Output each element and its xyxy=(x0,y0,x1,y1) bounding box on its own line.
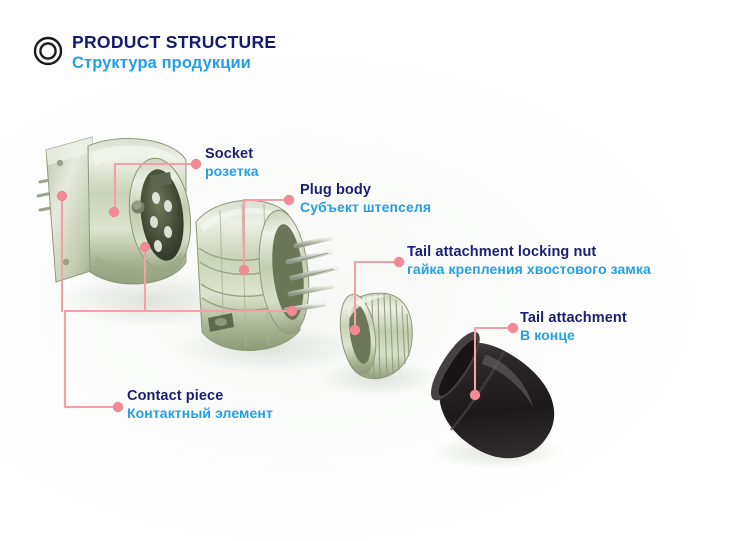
callout-label-locking-nut: Tail attachment locking nut гайка крепле… xyxy=(407,244,651,277)
callout-label-plug-body: Plug body Субъект штепселя xyxy=(300,182,431,215)
callout-ru-socket: розетка xyxy=(205,164,259,180)
bullseye-icon xyxy=(33,36,63,66)
callout-en-socket: Socket xyxy=(205,146,259,163)
leader-dot-contact-label xyxy=(113,402,123,412)
leader-dot-nut-target xyxy=(350,325,360,335)
callout-label-tail-attachment: Tail attachment В конце xyxy=(520,310,627,343)
header-title-en: PRODUCT STRUCTURE xyxy=(72,33,276,53)
leader-dots xyxy=(57,159,518,412)
header-title-ru: Структура продукции xyxy=(72,54,276,72)
leader-dot-socket-label xyxy=(191,159,201,169)
callout-ru-plug-body: Субъект штепселя xyxy=(300,200,431,216)
callout-label-socket: Socket розетка xyxy=(205,146,259,179)
leader-dot-plug-label xyxy=(284,195,294,205)
callout-ru-tail-attachment: В конце xyxy=(520,328,627,344)
callout-ru-contact-piece: Контактный элемент xyxy=(127,406,273,422)
diagram-canvas: PRODUCT STRUCTURE Структура продукции So… xyxy=(0,0,750,541)
leader-line-plug-body xyxy=(244,200,289,270)
callout-ru-locking-nut: гайка крепления хвостового замка xyxy=(407,262,651,278)
leader-dot-contact-socket xyxy=(57,191,67,201)
callout-en-contact-piece: Contact piece xyxy=(127,388,273,405)
leader-dot-contact-pins xyxy=(287,306,297,316)
page-header: PRODUCT STRUCTURE Структура продукции xyxy=(33,33,276,72)
leader-dot-socket-target xyxy=(109,207,119,217)
leader-dot-tail-target xyxy=(470,390,480,400)
callout-en-plug-body: Plug body xyxy=(300,182,431,199)
leader-line-locking-nut xyxy=(355,262,399,330)
leader-dot-nut-label xyxy=(394,257,404,267)
callout-label-contact-piece: Contact piece Контактный элемент xyxy=(127,388,273,421)
leader-line-tail xyxy=(475,328,513,395)
leader-line-socket xyxy=(115,164,196,212)
leader-dot-plug-target xyxy=(239,265,249,275)
leader-dot-contact-mid xyxy=(140,242,150,252)
leader-line-contact-piece xyxy=(62,200,292,407)
callout-en-tail-attachment: Tail attachment xyxy=(520,310,627,327)
callout-en-locking-nut: Tail attachment locking nut xyxy=(407,244,651,261)
leader-dot-tail-label xyxy=(508,323,518,333)
